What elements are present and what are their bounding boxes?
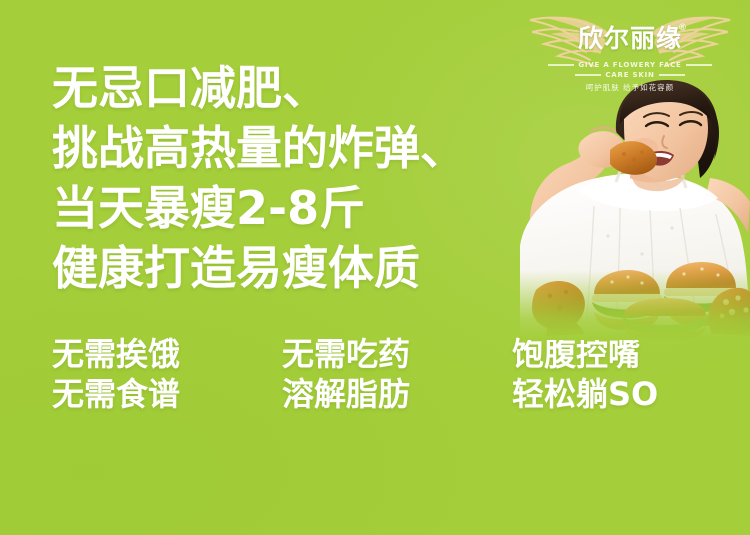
headline-line-4: 健康打造易瘦体质	[52, 238, 522, 298]
headline-block: 无忌口减肥、 挑战高热量的炸弹、 当天暴瘦2-8斤 健康打造易瘦体质	[52, 58, 522, 298]
benefit-2-top: 无需吃药	[282, 334, 512, 374]
brand-tagline-en: GIVE A FLOWERY FACE CARE SKIN	[510, 60, 750, 80]
headline-line-3: 当天暴瘦2-8斤	[52, 178, 522, 238]
headline-line-1: 无忌口减肥、	[52, 58, 522, 118]
benefit-3-bottom: 轻松躺SO	[512, 374, 712, 414]
benefit-3-top: 饱腹控嘴	[512, 334, 712, 374]
headline-line-2: 挑战高热量的炸弹、	[52, 118, 522, 178]
benefit-column-3: 饱腹控嘴 轻松躺SO	[512, 334, 712, 414]
benefit-2-bottom: 溶解脂肪	[282, 374, 512, 414]
brand-name: 欣尔丽缘	[510, 26, 750, 51]
benefit-1-top: 无需挨饿	[52, 334, 282, 374]
rule-left-2	[575, 74, 601, 76]
brand-tagline-cn: 呵护肌肤 给予如花容颜	[510, 82, 750, 93]
brand-logo: 欣尔丽缘 ® GIVE A FLOWERY FACE CARE SKIN 呵护肌…	[510, 4, 750, 96]
benefit-column-2: 无需吃药 溶解脂肪	[282, 334, 512, 414]
registered-mark-icon: ®	[678, 23, 687, 33]
rule-right	[686, 64, 712, 66]
rule-right-2	[659, 74, 685, 76]
model-photo-illustration	[520, 78, 750, 340]
tagline-en-line1: GIVE A FLOWERY FACE	[578, 61, 681, 69]
benefit-1-bottom: 无需食谱	[52, 374, 282, 414]
weight-loss-ad-banner: 欣尔丽缘 ® GIVE A FLOWERY FACE CARE SKIN 呵护肌…	[0, 0, 750, 535]
rule-left	[548, 64, 574, 66]
model-photo	[520, 78, 750, 340]
benefits-row: 无需挨饿 无需食谱 无需吃药 溶解脂肪 饱腹控嘴 轻松躺SO	[52, 334, 712, 414]
benefit-column-1: 无需挨饿 无需食谱	[52, 334, 282, 414]
tagline-en-line2: CARE SKIN	[605, 71, 654, 79]
